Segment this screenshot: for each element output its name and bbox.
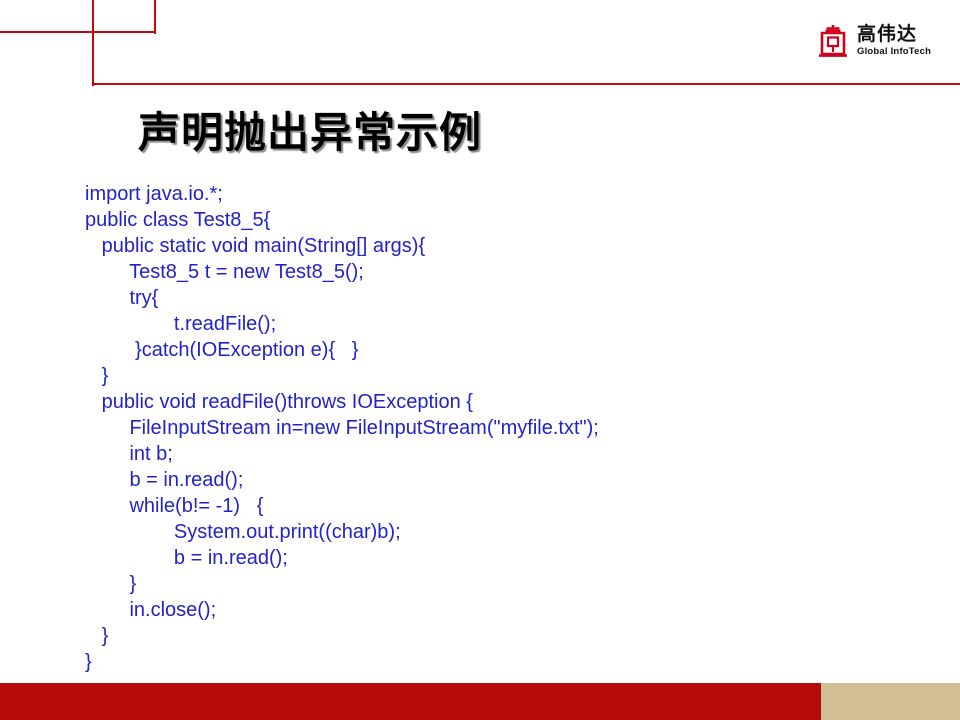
code-line: int b;: [85, 441, 925, 467]
code-line: t.readFile();: [85, 311, 925, 337]
code-line: import java.io.*;: [85, 181, 925, 207]
decorative-rule-vertical-short: [154, 0, 156, 34]
company-logo: 高伟达 Global InfoTech: [816, 18, 952, 64]
code-line: }: [85, 363, 925, 389]
code-line: b = in.read();: [85, 545, 925, 571]
code-line: public class Test8_5{: [85, 207, 925, 233]
gaoweida-seal-icon: [816, 22, 850, 60]
code-line: FileInputStream in=new FileInputStream("…: [85, 415, 925, 441]
slide-title: 声明抛出异常示例: [138, 99, 482, 160]
footer-bar: [0, 683, 960, 720]
logo-chinese-name: 高伟达: [857, 25, 931, 44]
decorative-rule-horizontal-main: [92, 83, 960, 85]
footer-bar-red: [0, 683, 821, 720]
logo-english-name: Global InfoTech: [857, 47, 931, 57]
code-line: in.close();: [85, 597, 925, 623]
code-line: }: [85, 623, 925, 649]
code-line: }catch(IOException e){ }: [85, 337, 925, 363]
code-line: Test8_5 t = new Test8_5();: [85, 259, 925, 285]
code-line: public void readFile()throws IOException…: [85, 389, 925, 415]
code-line: }: [85, 649, 925, 675]
code-line: try{: [85, 285, 925, 311]
code-line: while(b!= -1) {: [85, 493, 925, 519]
code-line: b = in.read();: [85, 467, 925, 493]
slide-canvas: 高伟达 Global InfoTech 声明抛出异常示例 import java…: [0, 0, 960, 720]
code-line: public static void main(String[] args){: [85, 233, 925, 259]
decorative-rule-vertical-long: [92, 0, 94, 86]
footer-bar-tan: [821, 683, 960, 720]
decorative-rule-horizontal-left: [0, 31, 156, 33]
code-line: System.out.print((char)b);: [85, 519, 925, 545]
code-line: }: [85, 571, 925, 597]
logo-wordmark: 高伟达 Global InfoTech: [857, 25, 931, 57]
code-block: import java.io.*;public class Test8_5{ p…: [85, 181, 925, 675]
